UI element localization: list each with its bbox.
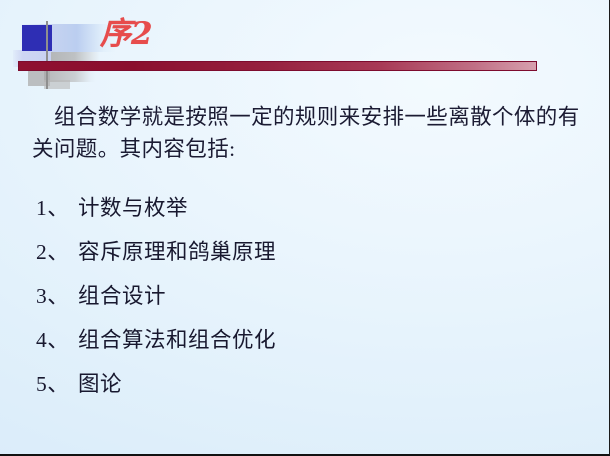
list-item-number: 1、	[36, 186, 78, 230]
presentation-slide: 序2 组合数学就是按照一定的规则来安排一些离散个体的有关问题。其内容包括: 1、…	[0, 0, 610, 456]
slide-body: 组合数学就是按照一定的规则来安排一些离散个体的有关问题。其内容包括: 1、 计数…	[0, 0, 610, 456]
list-item: 1、 计数与枚举	[36, 186, 556, 230]
list-item: 5、 图论	[36, 362, 556, 406]
list-item: 3、 组合设计	[36, 274, 556, 318]
list-item-label: 组合设计	[78, 274, 166, 318]
list-item: 2、 容斥原理和鸽巢原理	[36, 230, 556, 274]
list-item: 4、 组合算法和组合优化	[36, 318, 556, 362]
list-item-label: 容斥原理和鸽巢原理	[78, 230, 276, 274]
list-item-number: 4、	[36, 318, 78, 362]
intro-paragraph: 组合数学就是按照一定的规则来安排一些离散个体的有关问题。其内容包括:	[32, 101, 580, 165]
topics-list: 1、 计数与枚举 2、 容斥原理和鸽巢原理 3、 组合设计 4、 组合算法和组合…	[36, 186, 556, 406]
list-item-number: 3、	[36, 274, 78, 318]
list-item-label: 计数与枚举	[78, 186, 188, 230]
list-item-label: 图论	[78, 362, 122, 406]
list-item-number: 2、	[36, 230, 78, 274]
list-item-number: 5、	[36, 362, 78, 406]
list-item-label: 组合算法和组合优化	[78, 318, 276, 362]
